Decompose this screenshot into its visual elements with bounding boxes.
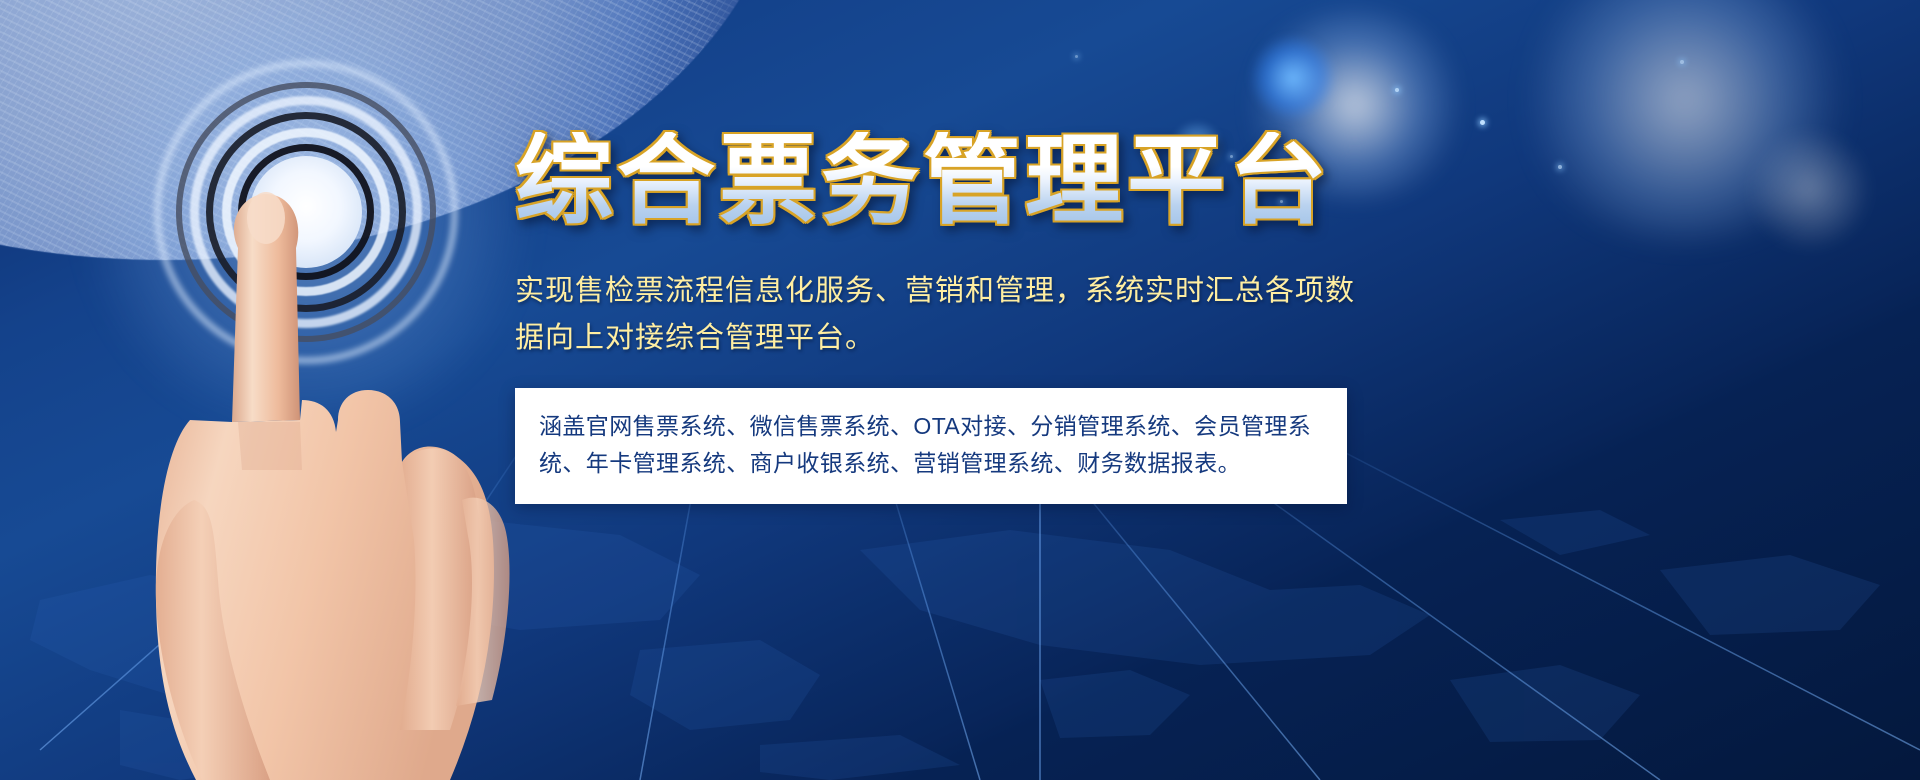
sparkle-dot <box>1075 55 1078 58</box>
pointing-hand-graphic <box>150 170 530 780</box>
sparkle-dot <box>1480 120 1485 125</box>
banner-hero: 综合票务管理平台 实现售检票流程信息化服务、营销和管理，系统实时汇总各项数据向上… <box>0 0 1920 780</box>
sparkle-dot <box>1395 88 1399 92</box>
feature-info-box: 涵盖官网售票系统、微信售票系统、OTA对接、分销管理系统、会员管理系统、年卡管理… <box>515 388 1347 505</box>
bokeh-light-glow <box>1750 130 1870 250</box>
banner-content: 综合票务管理平台 实现售检票流程信息化服务、营销和管理，系统实时汇总各项数据向上… <box>515 132 1375 504</box>
page-title: 综合票务管理平台 <box>515 132 1375 234</box>
sparkle-dot <box>1680 60 1684 64</box>
feature-info-text: 涵盖官网售票系统、微信售票系统、OTA对接、分销管理系统、会员管理系统、年卡管理… <box>539 408 1323 483</box>
sparkle-dot <box>1558 165 1562 169</box>
banner-subtitle: 实现售检票流程信息化服务、营销和管理，系统实时汇总各项数据向上对接综合管理平台。 <box>515 268 1355 362</box>
bokeh-light-glow <box>1250 35 1336 121</box>
